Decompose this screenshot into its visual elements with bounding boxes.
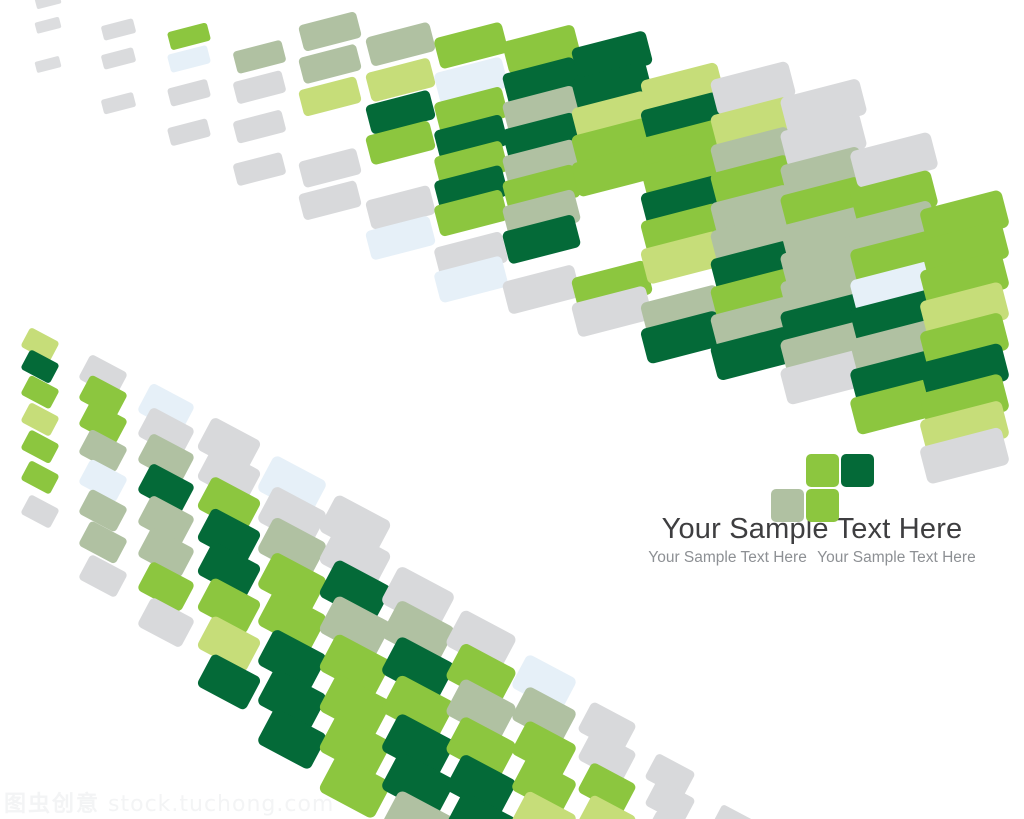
mosaic-tile [20, 402, 59, 437]
logo-mark [600, 440, 1024, 514]
mosaic-tile [34, 17, 61, 34]
watermark-cn: 图虫创意 [4, 792, 100, 817]
mosaic-tile [232, 40, 286, 75]
mosaic-tile [502, 264, 582, 315]
mosaic-tile [101, 18, 137, 41]
mosaic-tile [101, 47, 137, 70]
mosaic-tile [196, 653, 262, 711]
mosaic-tile [78, 520, 128, 564]
mosaic-tile [101, 92, 137, 115]
mosaic-tile [167, 79, 211, 107]
mosaic-tile [34, 56, 61, 73]
mosaic-tile [20, 349, 59, 384]
mosaic-tile [711, 804, 754, 819]
bottom-mosaic-group [20, 327, 872, 819]
sample-subtitle-row: Your Sample Text Here Your Sample Text H… [600, 549, 1024, 567]
watermark-en: stock.tuchong.com [108, 792, 334, 817]
mosaic-tile [20, 460, 59, 495]
mosaic-tile [232, 109, 286, 144]
mosaic-tile [256, 707, 328, 770]
mosaic-tile [20, 375, 59, 410]
mosaic-tile [232, 152, 286, 187]
mosaic-tile [20, 429, 59, 464]
logo-square-top-left [806, 454, 839, 487]
mosaic-tile [167, 118, 211, 146]
mosaic-tile [20, 494, 59, 529]
text-block: Your Sample Text Here Your Sample Text H… [600, 440, 1024, 567]
logo-square-bottom-left [771, 489, 804, 522]
sample-subtitle-right: Your Sample Text Here [817, 549, 976, 566]
mosaic-tile [137, 597, 196, 649]
artboard: Your Sample Text Here Your Sample Text H… [0, 0, 1024, 819]
mosaic-tile [78, 488, 128, 532]
logo-square-bottom-right [806, 489, 839, 522]
mosaic-tile [232, 70, 286, 105]
mosaic-artwork [0, 0, 1024, 819]
logo-square-top-right [841, 454, 874, 487]
stock-watermark: 图虫创意 stock.tuchong.com [4, 786, 334, 818]
mosaic-tile [78, 554, 128, 598]
sample-subtitle-left: Your Sample Text Here [648, 549, 807, 566]
mosaic-tile [34, 0, 61, 9]
